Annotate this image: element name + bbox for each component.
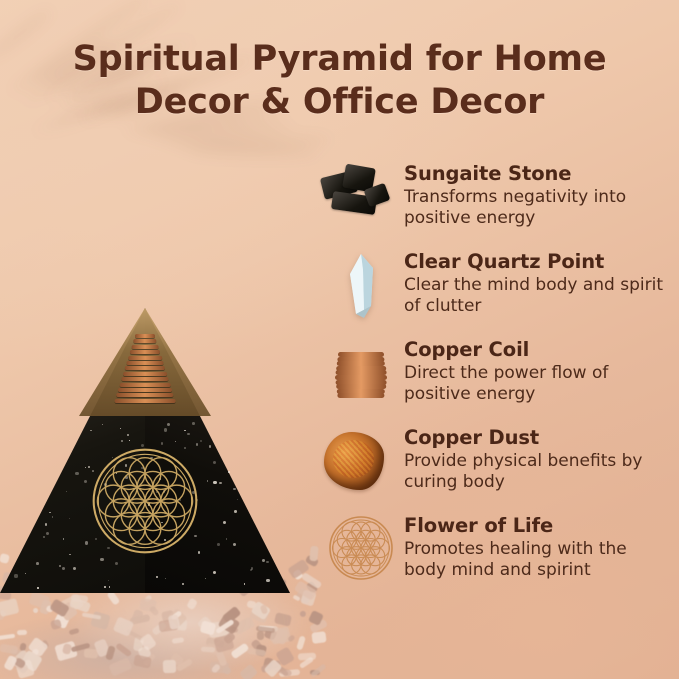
feature-item-copper-coil: Copper Coil Direct the power flow of pos… (318, 336, 668, 420)
flower-of-life-icon (318, 512, 404, 588)
shungite-stone-icon (318, 160, 404, 236)
feature-description: Transforms negativity into positive ener… (404, 187, 668, 228)
feature-text-copper-dust: Copper Dust Provide physical benefits by… (404, 424, 668, 492)
feature-heading: Flower of Life (404, 514, 668, 537)
feature-heading: Copper Coil (404, 338, 668, 361)
feature-description: Direct the power flow of positive energy (404, 363, 668, 404)
feature-heading: Clear Quartz Point (404, 250, 668, 273)
feature-text-shungite: Sungaite Stone Transforms negativity int… (404, 160, 668, 228)
pyramid-product-image (0, 230, 322, 679)
feature-text-flower-of-life: Flower of Life Promotes healing with the… (404, 512, 668, 580)
copper-coil-inside-pyramid (112, 334, 178, 408)
feature-description: Provide physical benefits by curing body (404, 451, 668, 492)
orgone-pyramid (0, 308, 290, 593)
feature-list: Sungaite Stone Transforms negativity int… (318, 160, 668, 600)
page-title: Spiritual Pyramid for Home Decor & Offic… (0, 38, 679, 123)
feature-item-clear-quartz: Clear Quartz Point Clear the mind body a… (318, 248, 668, 332)
feature-text-copper-coil: Copper Coil Direct the power flow of pos… (404, 336, 668, 404)
title-line-2: Decor & Office Decor (0, 81, 679, 124)
copper-dust-icon (318, 424, 404, 500)
feature-text-clear-quartz: Clear Quartz Point Clear the mind body a… (404, 248, 668, 316)
copper-coil-icon (318, 336, 404, 412)
product-infographic: Spiritual Pyramid for Home Decor & Offic… (0, 0, 679, 679)
feature-description: Clear the mind body and spirit of clutte… (404, 275, 668, 316)
title-line-1: Spiritual Pyramid for Home (73, 39, 607, 79)
feature-heading: Copper Dust (404, 426, 668, 449)
feature-item-flower-of-life: Flower of Life Promotes healing with the… (318, 512, 668, 596)
flower-of-life-symbol-on-pyramid (89, 445, 201, 557)
feature-description: Promotes healing with the body mind and … (404, 539, 668, 580)
feature-item-copper-dust: Copper Dust Provide physical benefits by… (318, 424, 668, 508)
feature-item-shungite: Sungaite Stone Transforms negativity int… (318, 160, 668, 244)
clear-quartz-point-icon (318, 248, 404, 324)
feature-heading: Sungaite Stone (404, 162, 668, 185)
